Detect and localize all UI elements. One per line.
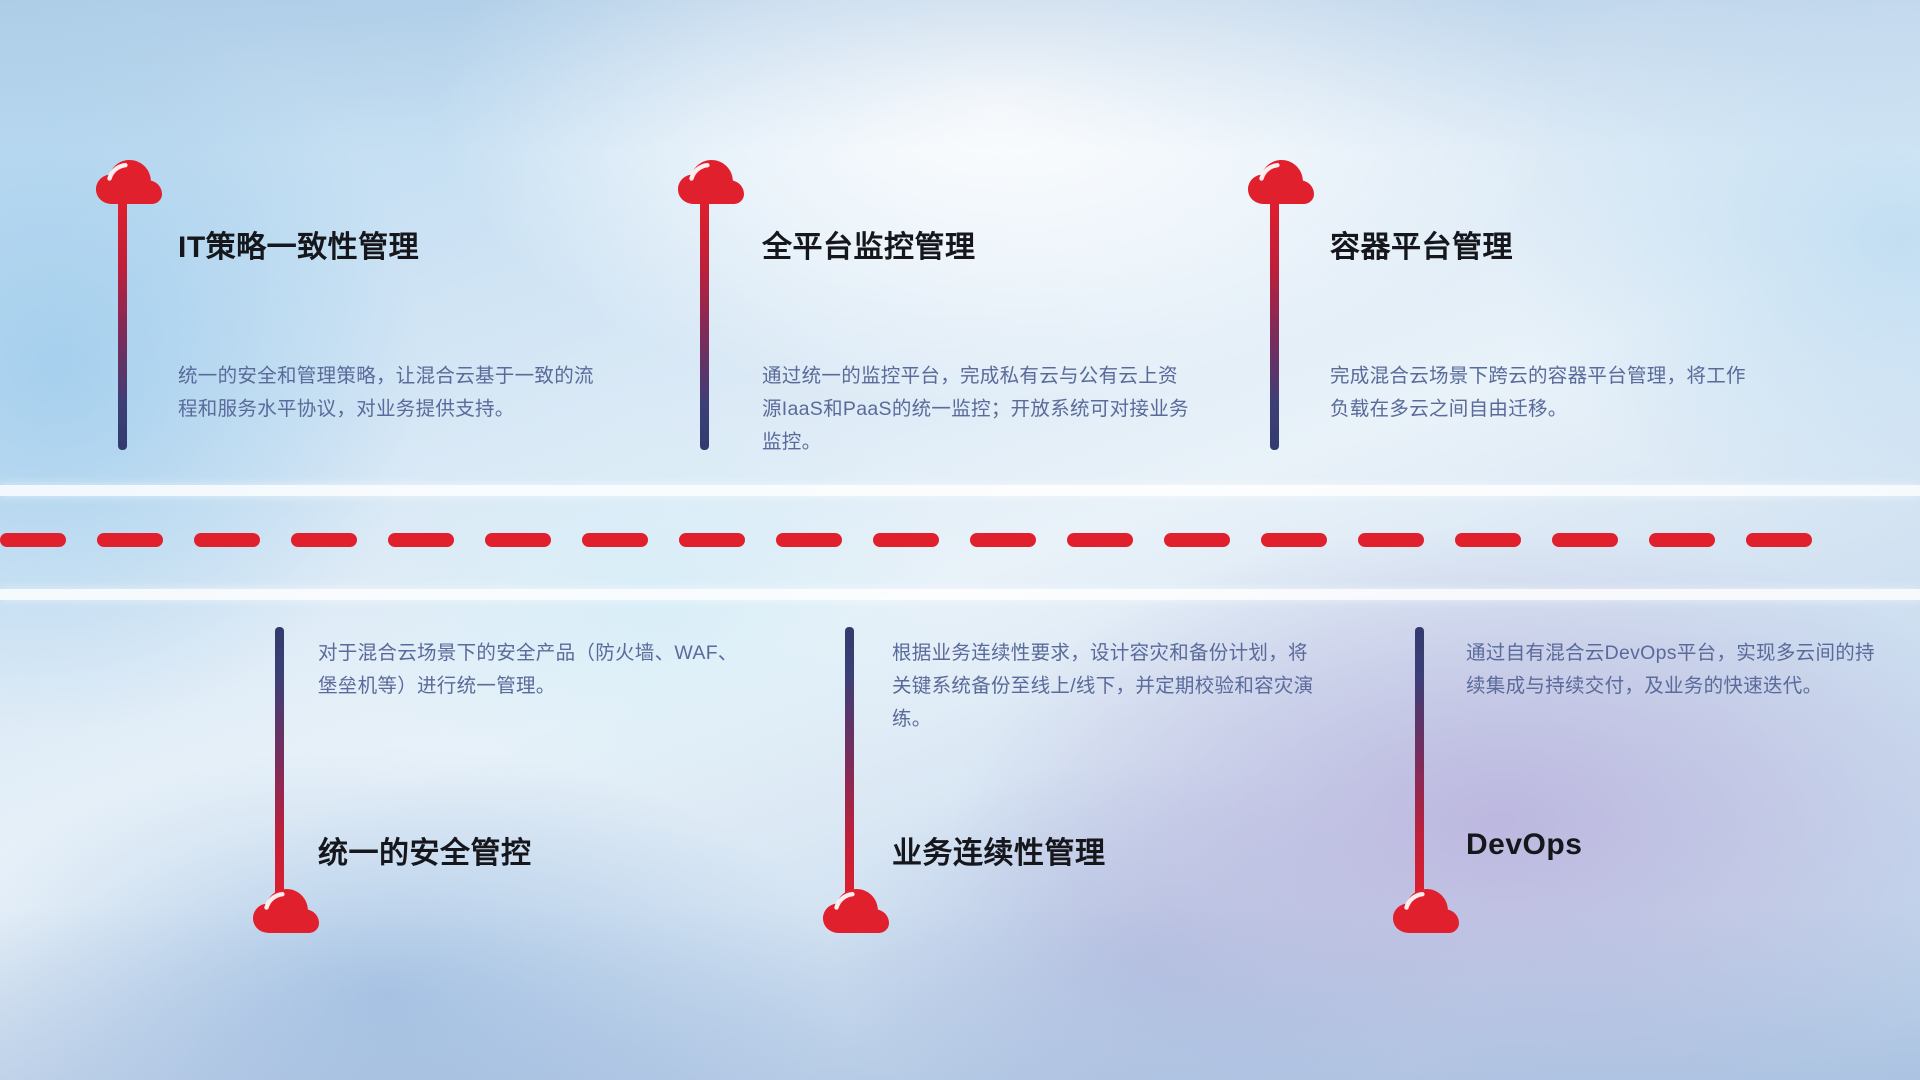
divider-bar-upper (0, 485, 1920, 496)
divider-dash (291, 533, 357, 547)
divider-dash (873, 533, 939, 547)
bottom-body-2: 根据业务连续性要求，设计容灾和备份计划，将关键系统备份至线上/线下，并定期校验和… (892, 637, 1316, 736)
pin-stem (1415, 627, 1424, 903)
pin-stem (118, 200, 127, 450)
center-divider (0, 485, 1920, 600)
red-dashed-line (0, 533, 1920, 547)
pin-stem (845, 627, 854, 903)
divider-dash (1552, 533, 1618, 547)
cloud-icon (678, 160, 744, 206)
cloud-icon (253, 889, 319, 935)
divider-dash (970, 533, 1036, 547)
pin-stem (700, 200, 709, 450)
divider-dash (388, 533, 454, 547)
divider-dash (0, 533, 66, 547)
divider-dash (679, 533, 745, 547)
divider-dash (1358, 533, 1424, 547)
pin-stem (1270, 200, 1279, 450)
top-body-2: 通过统一的监控平台，完成私有云与公有云上资源IaaS和PaaS的统一监控；开放系… (762, 360, 1194, 459)
divider-dash (1455, 533, 1521, 547)
divider-dash (1261, 533, 1327, 547)
cloud-icon (96, 160, 162, 206)
bottom-title-2: 业务连续性管理 (892, 828, 1106, 872)
top-body-1: 统一的安全和管理策略，让混合云基于一致的流程和服务水平协议，对业务提供支持。 (178, 360, 610, 426)
divider-dash (776, 533, 842, 547)
divider-dash (194, 533, 260, 547)
top-title-1: IT策略一致性管理 (178, 222, 419, 266)
bottom-body-3: 通过自有混合云DevOps平台，实现多云间的持续集成与持续交付，及业务的快速迭代… (1466, 637, 1890, 703)
infographic-canvas: IT策略一致性管理 统一的安全和管理策略，让混合云基于一致的流程和服务水平协议，… (0, 0, 1920, 1080)
divider-dash (97, 533, 163, 547)
top-body-3: 完成混合云场景下跨云的容器平台管理，将工作负载在多云之间自由迁移。 (1330, 360, 1762, 426)
pin-stem (275, 627, 284, 903)
top-title-3: 容器平台管理 (1330, 222, 1513, 266)
divider-dash (1067, 533, 1133, 547)
divider-dash (1649, 533, 1715, 547)
cloud-icon (1248, 160, 1314, 206)
divider-dash (1164, 533, 1230, 547)
divider-dash (485, 533, 551, 547)
top-title-2: 全平台监控管理 (762, 222, 976, 266)
cloud-icon (823, 889, 889, 935)
divider-bar-lower (0, 589, 1920, 600)
divider-dash (582, 533, 648, 547)
bottom-title-3: DevOps (1466, 828, 1582, 862)
bottom-body-1: 对于混合云场景下的安全产品（防火墙、WAF、堡垒机等）进行统一管理。 (318, 637, 742, 703)
bottom-title-1: 统一的安全管控 (318, 828, 532, 872)
divider-dash (1746, 533, 1812, 547)
cloud-icon (1393, 889, 1459, 935)
